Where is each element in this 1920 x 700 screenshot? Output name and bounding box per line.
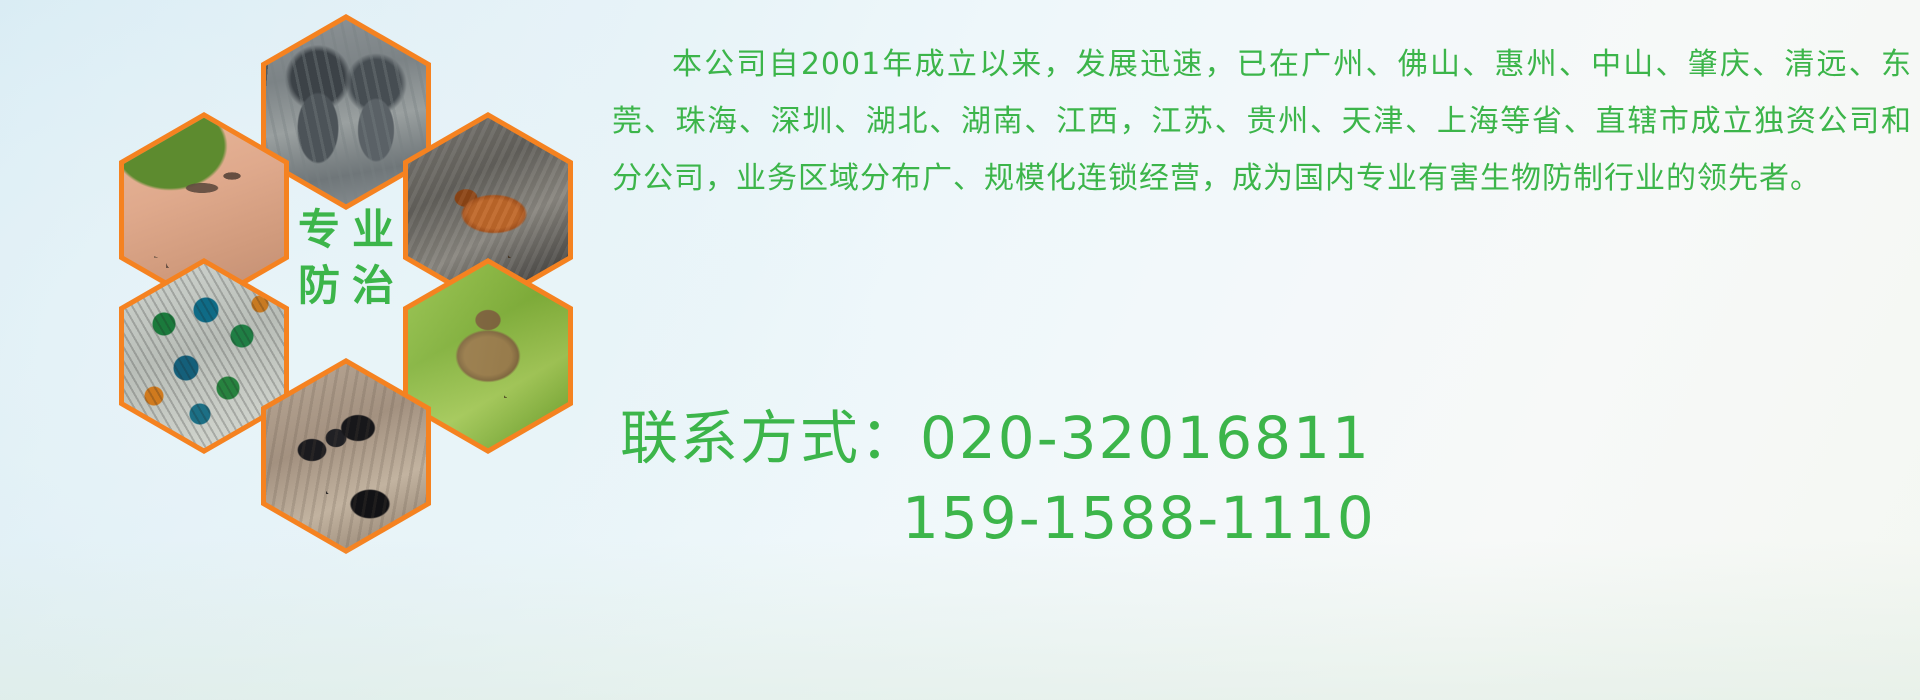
- center-label-line1: 专业: [286, 209, 406, 251]
- stinkbug-photo: [408, 264, 568, 449]
- pest-control-banner: 专业 防治 本公司自2001年成立以来，发展迅速，已在广州、佛山、惠州、中山、肇…: [0, 0, 1920, 700]
- hex-inner: [124, 264, 284, 449]
- hex-inner: [408, 264, 568, 449]
- fly-photo: [124, 264, 284, 449]
- company-description-text: 本公司自2001年成立以来，发展迅速，已在广州、佛山、惠州、中山、肇庆、清远、东…: [612, 36, 1912, 207]
- honeycomb-collage: 专业 防治: [95, 8, 595, 578]
- center-label-line2: 防治: [286, 265, 406, 307]
- ant-photo: [266, 364, 426, 549]
- contact-secondary-phone[interactable]: 159-1588-1110: [620, 478, 1920, 558]
- contact-primary-phone[interactable]: 联系方式：020-32016811: [620, 398, 1920, 478]
- contact-block: 联系方式：020-32016811 159-1588-1110: [620, 398, 1920, 558]
- company-description: 本公司自2001年成立以来，发展迅速，已在广州、佛山、惠州、中山、肇庆、清远、东…: [612, 36, 1912, 207]
- hex-inner: [266, 364, 426, 549]
